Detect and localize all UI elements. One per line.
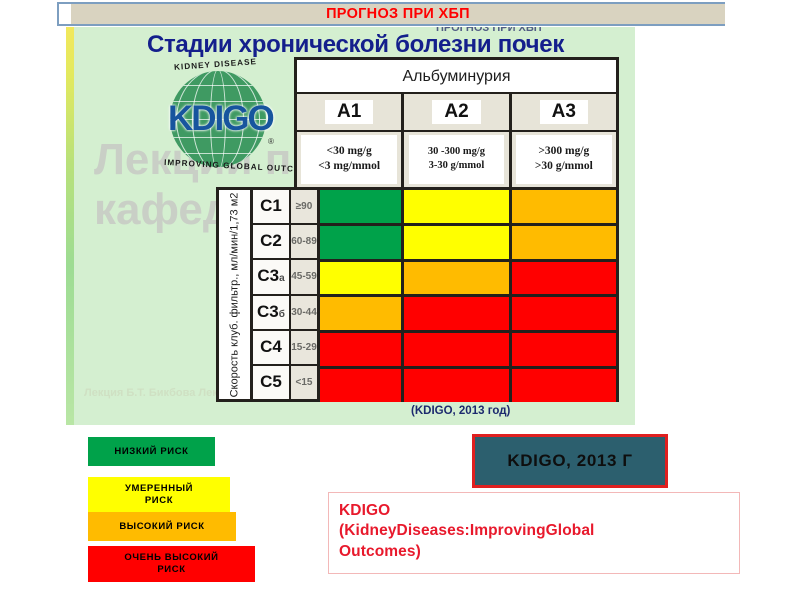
a2-label: A2: [432, 100, 480, 124]
kdigo-risk-table: Альбуминурия A1 A2 A3 <30 mg/g <3 mg/mmo…: [294, 57, 619, 402]
legend-moderate-risk-label: УМЕРЕННЫЙРИСК: [125, 483, 193, 507]
slide-left-gradient-edge: [66, 27, 74, 425]
a1-range-line2: <3 mg/mmol: [318, 159, 380, 175]
gfr-stage-value: <15: [291, 366, 317, 399]
gfr-stage-code: C1: [253, 190, 291, 223]
legend-very-high-risk-label: ОЧЕНЬ ВЫСОКИЙРИСК: [124, 552, 218, 576]
risk-cell-c2-a2: [404, 226, 511, 259]
gfr-stage-rows: C1≥90C260-89C3а45-59C3б30-44C415-29C5<15: [253, 190, 317, 399]
logo-arc-top-text: KIDNEY DISEASE: [174, 57, 257, 72]
legend-low-risk: НИЗКИЙ РИСК: [88, 437, 215, 466]
logo-wordmark: KDIGO: [168, 97, 272, 141]
legend-high-risk-label: ВЫСОКИЙ РИСК: [119, 521, 204, 533]
gfr-stage-row: C3а45-59: [253, 260, 317, 295]
risk-cell-c1-a2: [404, 190, 511, 223]
range-cell-a1: <30 mg/g <3 mg/mmol: [297, 132, 404, 187]
gfr-stage-value: 30-44: [291, 296, 317, 329]
risk-grid-row: [297, 369, 616, 402]
risk-grid-row: [297, 333, 616, 369]
gfr-stage-subscript: б: [279, 309, 285, 320]
a3-range-line2: >30 g/mmol: [535, 159, 593, 175]
risk-cell-c5-a3: [512, 369, 616, 402]
kdigo-year-badge: KDIGO, 2013 Г: [472, 434, 668, 488]
gfr-stage-column: Скорость клуб. фильтр., мл/мин/1,73 м2 C…: [216, 187, 320, 402]
risk-cell-c3а-a2: [404, 262, 511, 295]
albuminuria-range-row: <30 mg/g <3 mg/mmol 30 -300 mg/g 3-30 g/…: [297, 132, 616, 190]
slide-image-region: ПРОГНОЗ ПРИ ХБП Стадии хронической болез…: [66, 27, 635, 425]
column-header-a1: A1: [297, 94, 404, 130]
gfr-stage-row: C415-29: [253, 331, 317, 366]
gfr-stage-value: ≥90: [291, 190, 317, 223]
risk-grid-row: [297, 262, 616, 298]
albuminuria-code-row: A1 A2 A3: [297, 94, 616, 132]
kdigo-year-badge-label: KDIGO, 2013 Г: [507, 451, 632, 471]
top-banner: ПРОГНОЗ ПРИ ХБП: [57, 2, 725, 26]
range-cell-a2: 30 -300 mg/g 3-30 g/mmol: [404, 132, 511, 187]
a1-label: A1: [325, 100, 373, 124]
risk-grid: [297, 190, 616, 402]
page-title: ПРОГНОЗ ПРИ ХБП: [71, 4, 725, 24]
a3-label: A3: [540, 100, 588, 124]
gfr-stage-row: C3б30-44: [253, 296, 317, 331]
risk-cell-c5-a2: [404, 369, 511, 402]
risk-cell-c3б-a2: [404, 297, 511, 330]
column-header-a3: A3: [512, 94, 616, 130]
a3-range-line1: >300 mg/g: [538, 144, 589, 160]
kdigo-expansion-line-1: KDIGO: [339, 501, 729, 521]
gfr-stage-code: C3б: [253, 296, 291, 329]
risk-cell-c2-a3: [512, 226, 616, 259]
legend-moderate-risk: УМЕРЕННЫЙРИСК: [88, 477, 230, 513]
risk-grid-row: [297, 226, 616, 262]
a2-range-line2: 3-30 g/mmol: [429, 159, 485, 173]
gfr-stage-code: C4: [253, 331, 291, 364]
risk-cell-c4-a3: [512, 333, 616, 366]
source-note: (KDIGO, 2013 год): [411, 405, 510, 417]
risk-cell-c1-a3: [512, 190, 616, 223]
column-header-a2: A2: [404, 94, 511, 130]
gfr-stage-code: C2: [253, 225, 291, 258]
gfr-stage-code: C5: [253, 366, 291, 399]
a2-range-line1: 30 -300 mg/g: [428, 145, 485, 159]
registered-trademark-icon: ®: [268, 137, 274, 146]
risk-cell-c3а-a3: [512, 262, 616, 295]
risk-cell-c4-a2: [404, 333, 511, 366]
gfr-axis-label-text: Скорость клуб. фильтр., мл/мин/1,73 м2: [229, 192, 241, 397]
legend-high-risk: ВЫСОКИЙ РИСК: [88, 512, 236, 541]
gfr-stage-row: C260-89: [253, 225, 317, 260]
gfr-stage-row: C5<15: [253, 366, 317, 399]
gfr-stage-row: C1≥90: [253, 190, 317, 225]
range-cell-a3: >300 mg/g >30 g/mmol: [512, 132, 616, 187]
legend-very-high-risk: ОЧЕНЬ ВЫСОКИЙРИСК: [88, 546, 255, 582]
gfr-axis-label: Скорость клуб. фильтр., мл/мин/1,73 м2: [219, 190, 253, 399]
kdigo-logo: KIDNEY DISEASE KDIGO ® IMPROVING GLOBAL …: [146, 55, 294, 179]
kdigo-expansion-line-2: (KidneyDiseases:ImprovingGlobal: [339, 521, 729, 541]
gfr-stage-value: 45-59: [291, 260, 317, 293]
gfr-stage-subscript: а: [279, 273, 285, 284]
albuminuria-header: Альбуминурия: [297, 60, 616, 94]
kdigo-acronym-expansion: KDIGO (KidneyDiseases:ImprovingGlobal Ou…: [328, 492, 740, 574]
top-banner-strip: ПРОГНОЗ ПРИ ХБП: [71, 4, 725, 24]
gfr-stage-code: C3а: [253, 260, 291, 293]
gfr-stage-value: 15-29: [291, 331, 317, 364]
legend-low-risk-label: НИЗКИЙ РИСК: [114, 446, 188, 458]
a1-range-line1: <30 mg/g: [327, 144, 372, 160]
kdigo-expansion-line-3: Outcomes): [339, 542, 729, 562]
risk-cell-c3б-a3: [512, 297, 616, 330]
risk-grid-row: [297, 190, 616, 226]
risk-grid-row: [297, 297, 616, 333]
gfr-stage-value: 60-89: [291, 225, 317, 258]
